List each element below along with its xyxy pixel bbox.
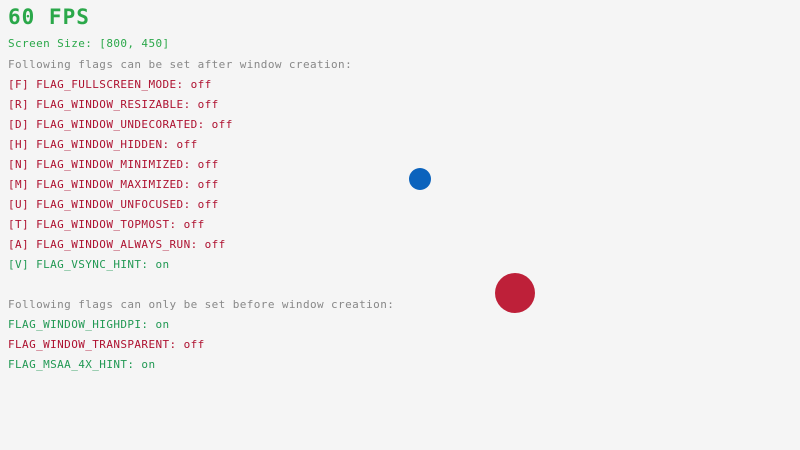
blue-ball-shape: [409, 168, 431, 190]
fps-counter: 60 FPS: [8, 5, 90, 29]
flag-row-flag-window-undecorated[interactable]: [D] FLAG_WINDOW_UNDECORATED: off: [8, 118, 233, 131]
runtime-flags-heading: Following flags can be set after window …: [8, 58, 352, 71]
creation-flags-heading: Following flags can only be set before w…: [8, 298, 394, 311]
flag-row-flag-window-hidden[interactable]: [H] FLAG_WINDOW_HIDDEN: off: [8, 138, 198, 151]
flag-row-flag-vsync-hint[interactable]: [V] FLAG_VSYNC_HINT: on: [8, 258, 170, 271]
flag-row-flag-window-unfocused[interactable]: [U] FLAG_WINDOW_UNFOCUSED: off: [8, 198, 219, 211]
flag-row-flag-window-minimized[interactable]: [N] FLAG_WINDOW_MINIMIZED: off: [8, 158, 219, 171]
flag-row-flag-window-topmost[interactable]: [T] FLAG_WINDOW_TOPMOST: off: [8, 218, 205, 231]
red-ball-shape: [495, 273, 535, 313]
flag-row-flag-fullscreen-mode[interactable]: [F] FLAG_FULLSCREEN_MODE: off: [8, 78, 212, 91]
flag-row-flag-msaa-4x-hint[interactable]: FLAG_MSAA_4X_HINT: on: [8, 358, 155, 371]
raylib-window-canvas[interactable]: 60 FPS Screen Size: [800, 450] Following…: [0, 0, 800, 450]
screen-size-label: Screen Size: [800, 450]: [8, 37, 170, 50]
flag-row-flag-window-transparent[interactable]: FLAG_WINDOW_TRANSPARENT: off: [8, 338, 205, 351]
flag-row-flag-window-always-run[interactable]: [A] FLAG_WINDOW_ALWAYS_RUN: off: [8, 238, 226, 251]
flag-row-flag-window-maximized[interactable]: [M] FLAG_WINDOW_MAXIMIZED: off: [8, 178, 219, 191]
flag-row-flag-window-highdpi[interactable]: FLAG_WINDOW_HIGHDPI: on: [8, 318, 170, 331]
flag-row-flag-window-resizable[interactable]: [R] FLAG_WINDOW_RESIZABLE: off: [8, 98, 219, 111]
